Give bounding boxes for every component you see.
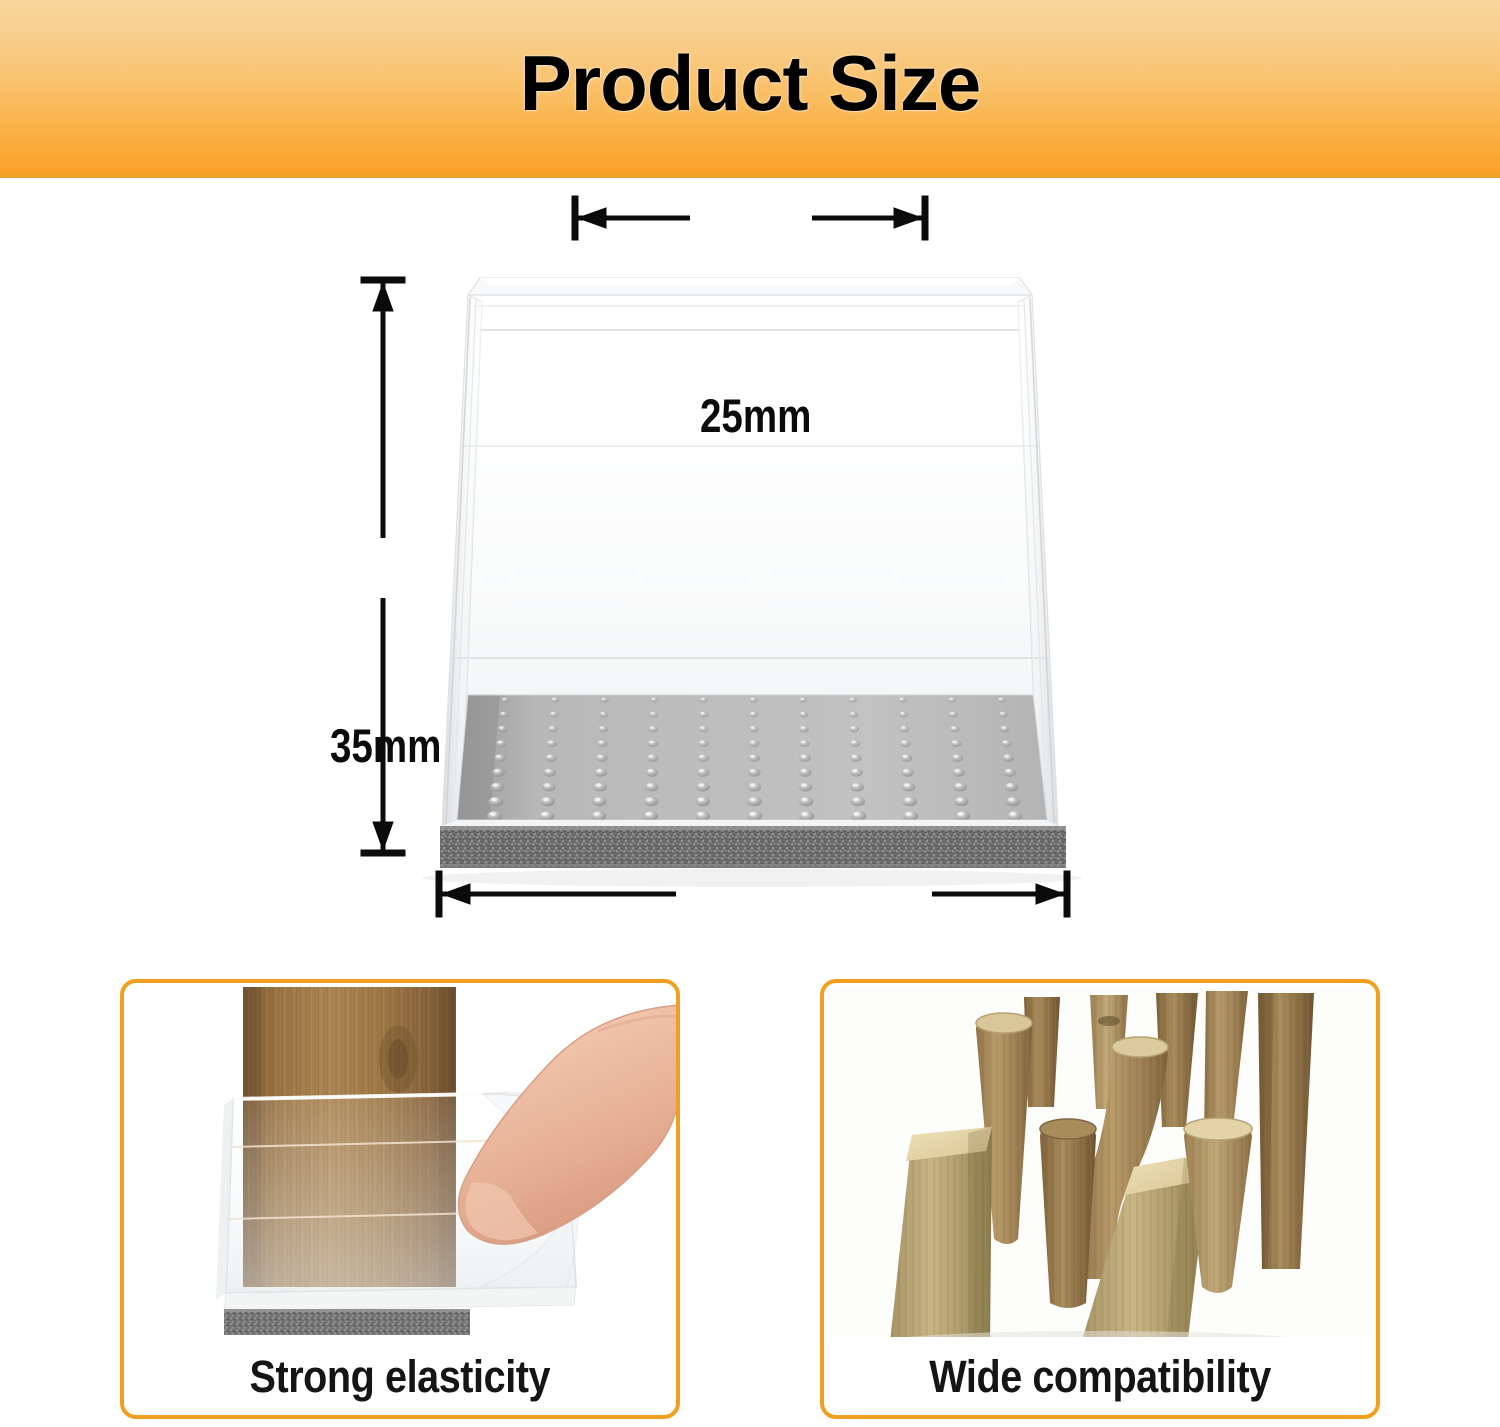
felt-pad bbox=[440, 826, 1066, 868]
feature-photo-strong-elasticity bbox=[128, 987, 680, 1337]
product-diagram: 25mm 35mm 40mm bbox=[0, 178, 1500, 960]
dimension-label-height: 35mm bbox=[330, 722, 441, 769]
header-banner: Product Size bbox=[0, 0, 1500, 178]
feature-caption-strong-elasticity: Strong elasticity bbox=[124, 1354, 676, 1399]
feature-caption-text: Strong elasticity bbox=[250, 1354, 551, 1399]
product-illustration bbox=[0, 178, 1500, 960]
felt-pad-small bbox=[224, 1309, 470, 1335]
feature-photo-wide-compatibility bbox=[828, 987, 1380, 1337]
feature-panel-strong-elasticity[interactable]: Strong elasticity bbox=[120, 979, 680, 1419]
feature-panel-wide-compatibility[interactable]: Wide compatibility bbox=[820, 979, 1380, 1419]
page-title: Product Size bbox=[0, 44, 1500, 122]
feature-caption-wide-compatibility: Wide compatibility bbox=[824, 1354, 1376, 1399]
feature-caption-text: Wide compatibility bbox=[929, 1354, 1271, 1399]
dimension-line-width bbox=[572, 196, 928, 240]
inner-grip-pad bbox=[457, 695, 1047, 821]
dimension-label-width: 25mm bbox=[700, 392, 811, 439]
